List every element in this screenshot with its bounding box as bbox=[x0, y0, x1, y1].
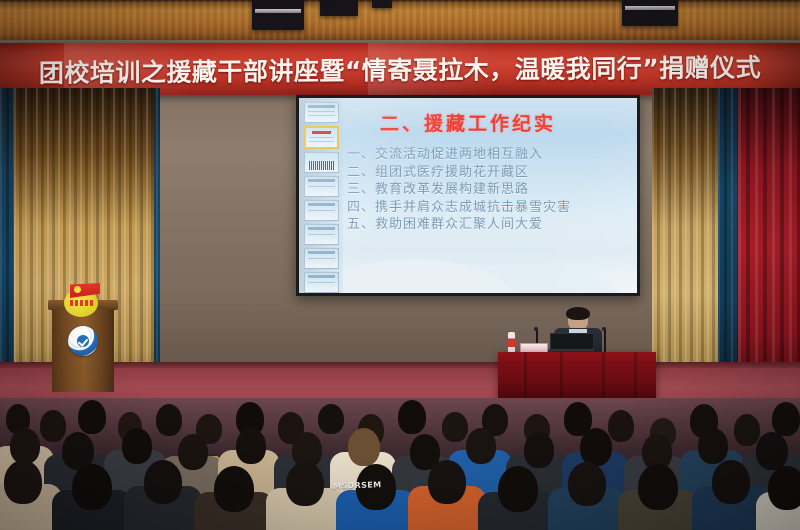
check-mark-icon bbox=[77, 335, 89, 347]
speaker-table bbox=[498, 352, 656, 398]
audience-head bbox=[712, 460, 750, 504]
audience-head bbox=[10, 428, 40, 464]
microphone-head-icon bbox=[534, 327, 538, 331]
emblem-banner bbox=[70, 300, 94, 306]
stage-light-icon bbox=[252, 0, 304, 30]
microphone-head-icon bbox=[602, 327, 606, 331]
audience-head bbox=[608, 410, 634, 442]
audience-head bbox=[40, 410, 66, 442]
water-bottle-icon bbox=[508, 332, 515, 353]
audience-head bbox=[524, 432, 554, 468]
audience-head bbox=[286, 462, 324, 506]
audience-head bbox=[580, 428, 612, 466]
audience-head bbox=[772, 402, 800, 436]
star-icon bbox=[74, 286, 81, 293]
audience-head bbox=[156, 404, 182, 436]
audience-head bbox=[734, 414, 760, 446]
screen-glare bbox=[299, 98, 637, 293]
audience-head bbox=[428, 460, 466, 504]
speaker-hair bbox=[566, 307, 590, 320]
audience-head bbox=[466, 428, 496, 464]
audience-head bbox=[236, 428, 266, 464]
audience-head bbox=[214, 466, 254, 512]
audience-seating bbox=[0, 398, 800, 530]
light-bar bbox=[625, 6, 674, 10]
stage-light-icon bbox=[320, 0, 358, 16]
audience-head bbox=[498, 466, 538, 512]
stage-light-icon bbox=[622, 0, 678, 26]
audience-head bbox=[144, 460, 182, 504]
communist-youth-league-emblem-icon bbox=[62, 283, 102, 317]
projected-slide: 二、援藏工作纪实 一、交流活动促进两地相互融入 二、组团式医疗援助花开藏区 三、… bbox=[299, 98, 637, 293]
audience-head bbox=[756, 432, 788, 470]
university-seal-icon bbox=[68, 326, 98, 356]
red-curtain-right bbox=[738, 88, 800, 394]
audience-head bbox=[568, 462, 606, 506]
microphone-icon bbox=[604, 330, 606, 354]
audience-head bbox=[638, 464, 678, 510]
curtain-pleats bbox=[738, 88, 800, 394]
audience-head bbox=[398, 400, 426, 434]
lecture-hall-photo: 团校培训之援藏干部讲座暨“情寄聂拉木，温暖我同行”捐赠仪式 bbox=[0, 0, 800, 530]
audience-head bbox=[348, 428, 380, 466]
audience-head bbox=[72, 464, 112, 510]
audience-head bbox=[122, 428, 152, 464]
stage-light-icon bbox=[372, 0, 392, 8]
audience-head bbox=[698, 428, 728, 464]
audience-head bbox=[78, 400, 106, 434]
light-bar bbox=[255, 9, 301, 13]
audience-head bbox=[442, 412, 468, 442]
audience-head bbox=[318, 404, 344, 434]
audience-head bbox=[4, 460, 42, 504]
projection-screen: 二、援藏工作纪实 一、交流活动促进两地相互融入 二、组团式医疗援助花开藏区 三、… bbox=[296, 95, 640, 296]
jacket-lettering: MSDRSEM bbox=[333, 480, 382, 491]
audience-head bbox=[768, 466, 800, 510]
audience-head bbox=[178, 434, 208, 470]
